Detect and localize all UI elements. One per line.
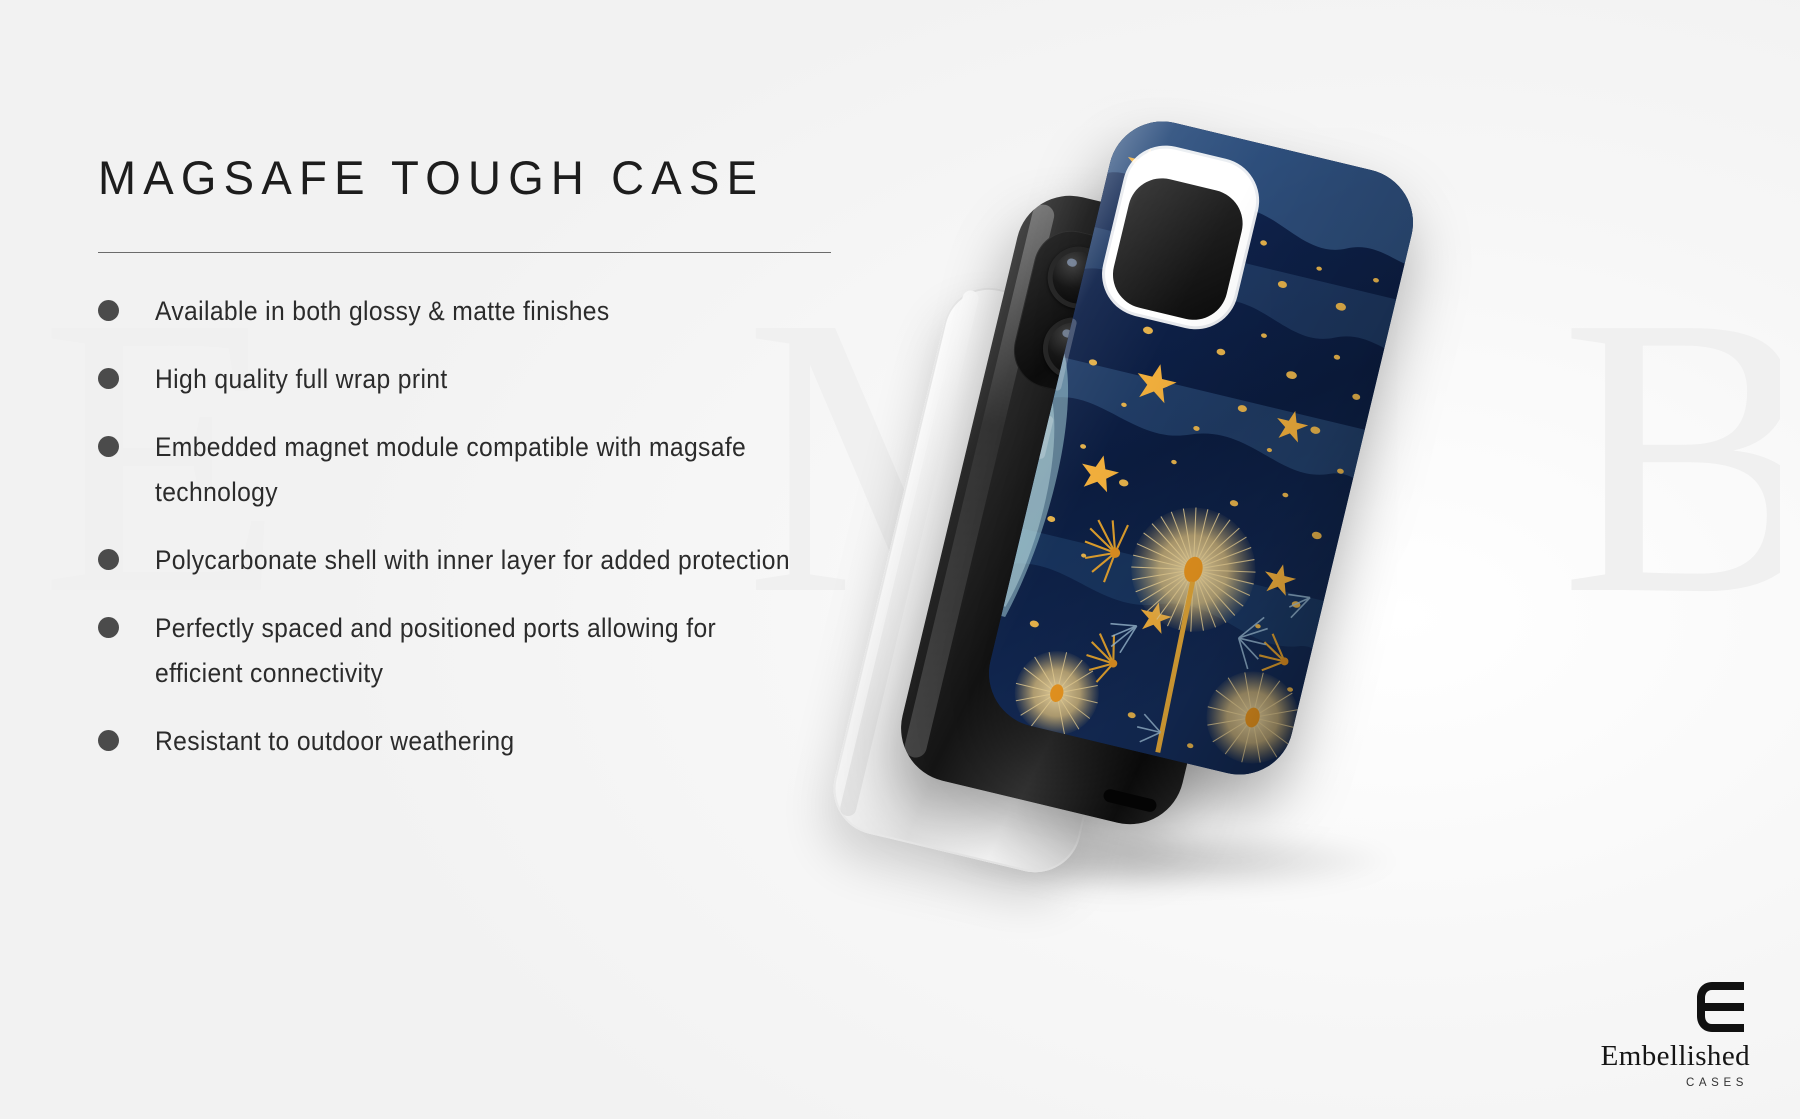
feature-text: Embedded magnet module compatible with m… xyxy=(155,425,806,515)
list-item: Perfectly spaced and positioned ports al… xyxy=(98,606,858,696)
brand-name: Embellished xyxy=(1601,1042,1750,1071)
bullet-dot-icon xyxy=(98,300,119,321)
product-phone-stack xyxy=(860,100,1480,900)
list-item: Embedded magnet module compatible with m… xyxy=(98,425,858,515)
feature-text: Polycarbonate shell with inner layer for… xyxy=(155,538,790,583)
brand-subtitle: CASES xyxy=(1601,1077,1748,1089)
bullet-dot-icon xyxy=(98,436,119,457)
feature-text-column: MAGSAFE TOUGH CASE Available in both glo… xyxy=(98,150,858,787)
list-item: Resistant to outdoor weathering xyxy=(98,719,858,764)
embellished-e-monogram-icon xyxy=(1694,979,1750,1035)
bullet-dot-icon xyxy=(98,617,119,638)
bullet-dot-icon xyxy=(98,730,119,751)
feature-text: Perfectly spaced and positioned ports al… xyxy=(155,606,806,696)
feature-list: Available in both glossy & matte finishe… xyxy=(98,289,858,764)
list-item: Polycarbonate shell with inner layer for… xyxy=(98,538,858,583)
list-item: Available in both glossy & matte finishe… xyxy=(98,289,858,334)
brand-logo: Embellished CASES xyxy=(1601,979,1750,1089)
bullet-dot-icon xyxy=(98,368,119,389)
product-feature-banner: E M B E MAGSAFE TOUGH CASE Available in … xyxy=(0,0,1800,1119)
page-title: MAGSAFE TOUGH CASE xyxy=(98,150,835,205)
feature-text: Resistant to outdoor weathering xyxy=(155,719,515,764)
feature-text: Available in both glossy & matte finishe… xyxy=(155,289,610,334)
feature-text: High quality full wrap print xyxy=(155,357,448,402)
bullet-dot-icon xyxy=(98,549,119,570)
list-item: High quality full wrap print xyxy=(98,357,858,402)
title-divider xyxy=(98,252,831,253)
